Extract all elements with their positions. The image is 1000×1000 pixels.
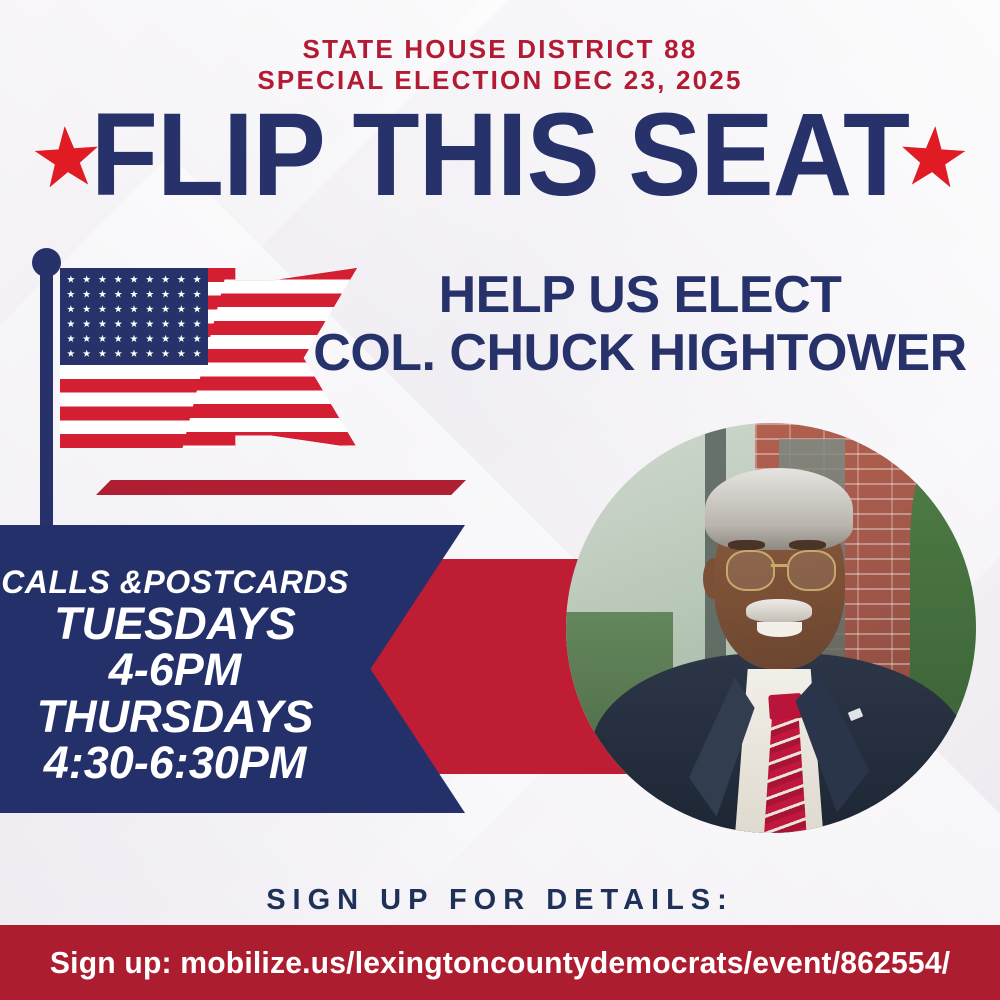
portrait-eyebrow-left xyxy=(728,540,765,550)
portrait-necktie-knot xyxy=(768,692,802,719)
event-schedule-text: CALLS &POSTCARDS TUESDAYS 4-6PM THURSDAY… xyxy=(0,566,350,786)
schedule-activity-label: CALLS &POSTCARDS xyxy=(0,566,350,599)
portrait-hair xyxy=(705,468,853,550)
portrait-eyebrow-right xyxy=(789,540,826,550)
flag-canton xyxy=(60,268,208,365)
signup-label: SIGN UP FOR DETAILS: xyxy=(0,884,1000,917)
portrait-eyeglass-right xyxy=(787,550,836,591)
schedule-day-tuesday: TUESDAYS xyxy=(0,601,350,647)
candidate-portrait-photo xyxy=(566,423,976,833)
portrait-mustache xyxy=(746,599,812,622)
portrait-eyeglass-left xyxy=(726,550,775,591)
portrait-eyeglass-bridge xyxy=(771,564,787,567)
schedule-time-tuesday: 4-6PM xyxy=(0,647,350,693)
election-eyebrow-text: STATE HOUSE DISTRICT 88 SPECIAL ELECTION… xyxy=(0,34,1000,96)
portrait-mouth xyxy=(757,622,802,637)
schedule-day-thursday: THURSDAYS xyxy=(0,694,350,740)
flagpole xyxy=(40,250,53,550)
campaign-poster: STATE HOUSE DISTRICT 88 SPECIAL ELECTION… xyxy=(0,0,1000,1000)
signup-url-text[interactable]: Sign up: mobilize.us/lexingtoncountydemo… xyxy=(50,945,950,981)
schedule-time-thursday: 4:30-6:30PM xyxy=(0,740,350,786)
signup-url-bar[interactable]: Sign up: mobilize.us/lexingtoncountydemo… xyxy=(0,925,1000,1000)
poster-headline: FLIP THIS SEAT xyxy=(35,96,965,214)
decorative-red-rule xyxy=(96,480,466,495)
candidate-subhead: HELP US ELECT COL. CHUCK HIGHTOWER xyxy=(300,266,980,382)
